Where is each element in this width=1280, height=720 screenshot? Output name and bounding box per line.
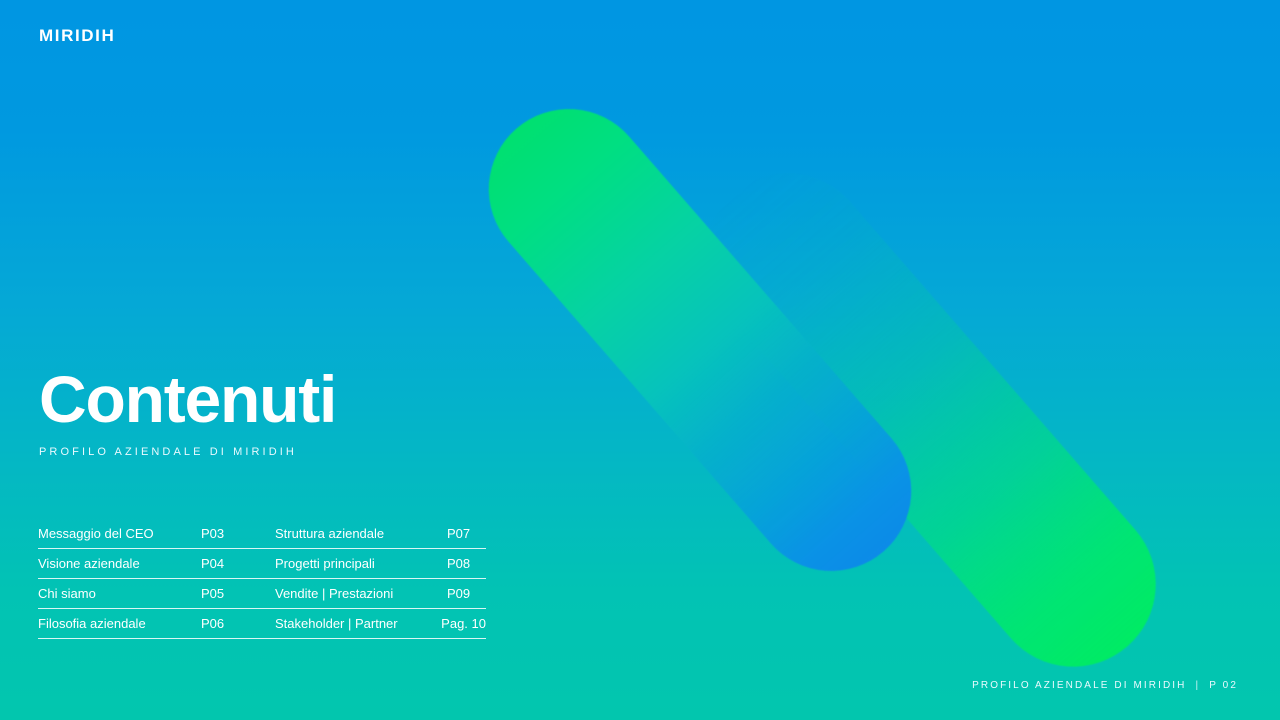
footer-separator: |	[1196, 680, 1201, 691]
toc-entry-visione-aziendale[interactable]: Visione aziendale P04	[38, 556, 275, 571]
toc-entry-label: Messaggio del CEO	[38, 526, 201, 541]
toc-entry-label: Struttura aziendale	[275, 526, 447, 541]
footer-page-label: P 02	[1209, 680, 1238, 691]
toc-entry-page: Pag. 10	[441, 616, 486, 631]
page-title: Contenuti	[39, 366, 336, 432]
brand-logo: MIRIDIH	[39, 26, 115, 46]
table-of-contents: Messaggio del CEO P03 Struttura aziendal…	[38, 518, 486, 639]
toc-row: Visione aziendale P04 Progetti principal…	[38, 548, 486, 578]
toc-entry-chi-siamo[interactable]: Chi siamo P05	[38, 586, 275, 601]
toc-entry-struttura-aziendale[interactable]: Struttura aziendale P07	[275, 526, 486, 541]
toc-entry-page: P04	[201, 556, 224, 571]
slide-contents: MIRIDIH Contenuti PROFILO AZIENDALE DI M…	[0, 0, 1280, 720]
toc-entry-page: P05	[201, 586, 224, 601]
toc-entry-messaggio-del-ceo[interactable]: Messaggio del CEO P03	[38, 526, 275, 541]
toc-entry-label: Filosofia aziendale	[38, 616, 201, 631]
toc-entry-page: P03	[201, 526, 224, 541]
toc-row: Messaggio del CEO P03 Struttura aziendal…	[38, 518, 486, 548]
toc-entry-filosofia-aziendale[interactable]: Filosofia aziendale P06	[38, 616, 275, 631]
toc-entry-vendite-prestazioni[interactable]: Vendite | Prestazioni P09	[275, 586, 486, 601]
toc-entry-page: P08	[447, 556, 470, 571]
toc-entry-page: P09	[447, 586, 470, 601]
toc-row: Filosofia aziendale P06 Stakeholder | Pa…	[38, 608, 486, 638]
toc-entry-label: Vendite | Prestazioni	[275, 586, 447, 601]
toc-entry-label: Visione aziendale	[38, 556, 201, 571]
capsule-shape-back	[671, 139, 1189, 700]
toc-entry-stakeholder-partner[interactable]: Stakeholder | Partner Pag. 10	[275, 616, 486, 631]
page-subtitle: PROFILO AZIENDALE DI MIRIDIH	[39, 446, 336, 458]
capsule-shape-front	[456, 76, 944, 604]
slide-footer: PROFILO AZIENDALE DI MIRIDIH | P 02	[972, 680, 1238, 691]
title-block: Contenuti PROFILO AZIENDALE DI MIRIDIH	[39, 366, 336, 458]
toc-entry-page: P07	[447, 526, 470, 541]
toc-row: Chi siamo P05 Vendite | Prestazioni P09	[38, 578, 486, 608]
toc-entry-page: P06	[201, 616, 224, 631]
toc-entry-label: Chi siamo	[38, 586, 201, 601]
toc-entry-label: Progetti principali	[275, 556, 447, 571]
toc-entry-progetti-principali[interactable]: Progetti principali P08	[275, 556, 486, 571]
toc-entry-label: Stakeholder | Partner	[275, 616, 441, 631]
footer-document-label: PROFILO AZIENDALE DI MIRIDIH	[972, 680, 1186, 691]
